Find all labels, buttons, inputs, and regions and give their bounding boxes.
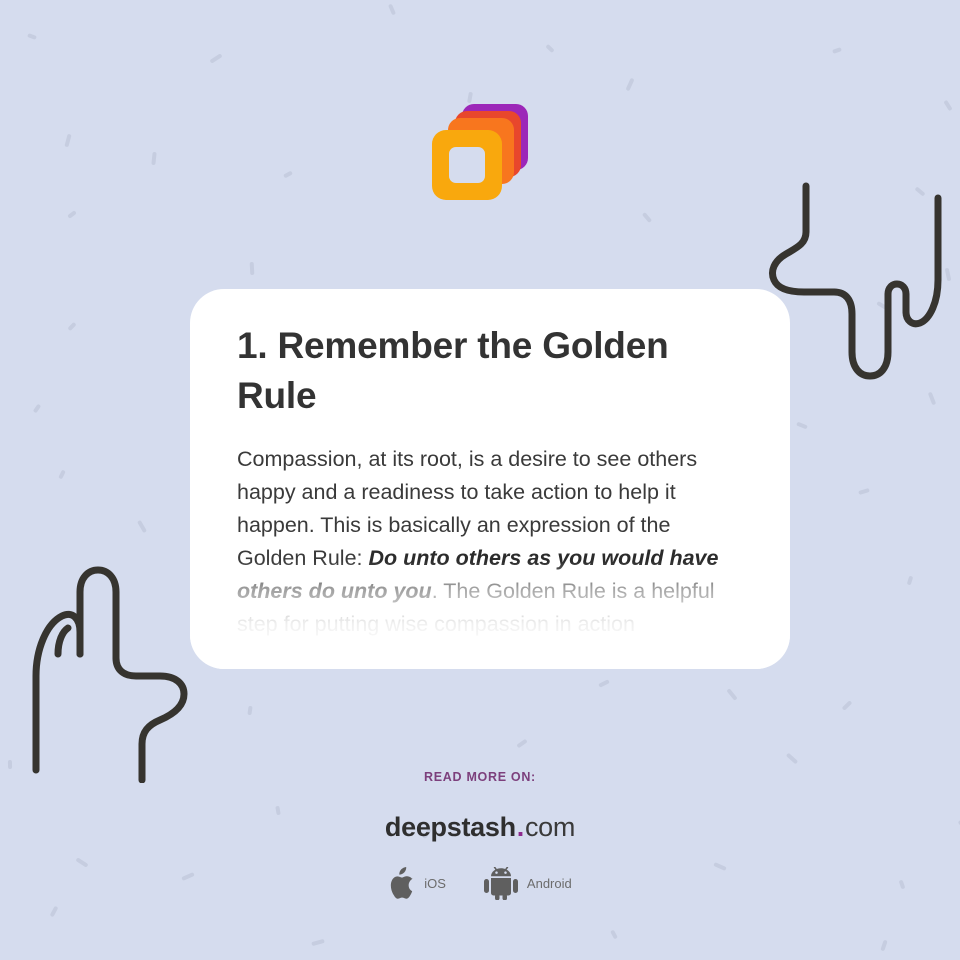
confetti-dash (545, 44, 554, 53)
idea-card[interactable]: 1. Remember the Golden Rule Compassion, … (190, 289, 790, 669)
confetti-dash (27, 33, 37, 40)
confetti-dash (137, 520, 147, 533)
brand-dot-accent: . (516, 812, 525, 842)
confetti-dash (642, 212, 652, 223)
idea-body-text: Compassion, at its root, is a desire to … (237, 443, 744, 641)
confetti-dash (876, 301, 887, 310)
confetti-dash (467, 92, 473, 104)
confetti-dash (311, 939, 325, 946)
confetti-dash (67, 322, 76, 331)
confetti-dash (388, 4, 396, 16)
confetti-dash (796, 422, 808, 430)
ios-store-label: iOS (424, 876, 446, 891)
confetti-dash (50, 906, 59, 918)
confetti-dash (610, 930, 618, 940)
brand-logo-block (0, 104, 960, 205)
brand-tld-text: com (525, 812, 575, 842)
deepstash-logo-icon (432, 104, 528, 200)
confetti-dash (842, 700, 853, 711)
android-store-label: Android (527, 876, 572, 891)
android-store-badge[interactable]: Android (484, 867, 572, 900)
confetti-dash (786, 753, 798, 765)
idea-card-content: 1. Remember the Golden Rule Compassion, … (190, 289, 790, 641)
confetti-dash (67, 210, 77, 219)
confetti-dash (516, 739, 527, 749)
confetti-dash (945, 268, 952, 282)
brand-wordmark[interactable]: deepstash.com (0, 812, 960, 843)
confetti-dash (928, 392, 936, 406)
confetti-dash (33, 404, 41, 414)
confetti-dash (598, 679, 610, 687)
confetti-dash (726, 688, 737, 701)
confetti-dash (858, 488, 870, 495)
ios-store-badge[interactable]: iOS (388, 867, 446, 900)
confetti-dash (209, 53, 222, 63)
confetti-dash (907, 576, 913, 586)
confetti-dash (247, 706, 252, 715)
read-more-label: READ MORE ON: (0, 770, 960, 784)
apple-icon (388, 867, 415, 900)
page-title: 1. Remember the Golden Rule (237, 321, 744, 421)
logo-square-cutout (449, 147, 485, 183)
app-store-badges: iOS Android (0, 867, 960, 900)
footer: READ MORE ON: deepstash.com iOS (0, 770, 960, 900)
confetti-dash (8, 760, 12, 769)
confetti-dash (58, 470, 66, 480)
confetti-dash (626, 78, 635, 92)
android-icon (484, 867, 518, 900)
confetti-dash (880, 940, 887, 952)
brand-name-text: deepstash (385, 812, 516, 842)
pointing-hand-up-icon (18, 558, 208, 783)
confetti-dash (832, 47, 842, 54)
confetti-dash (250, 262, 255, 275)
